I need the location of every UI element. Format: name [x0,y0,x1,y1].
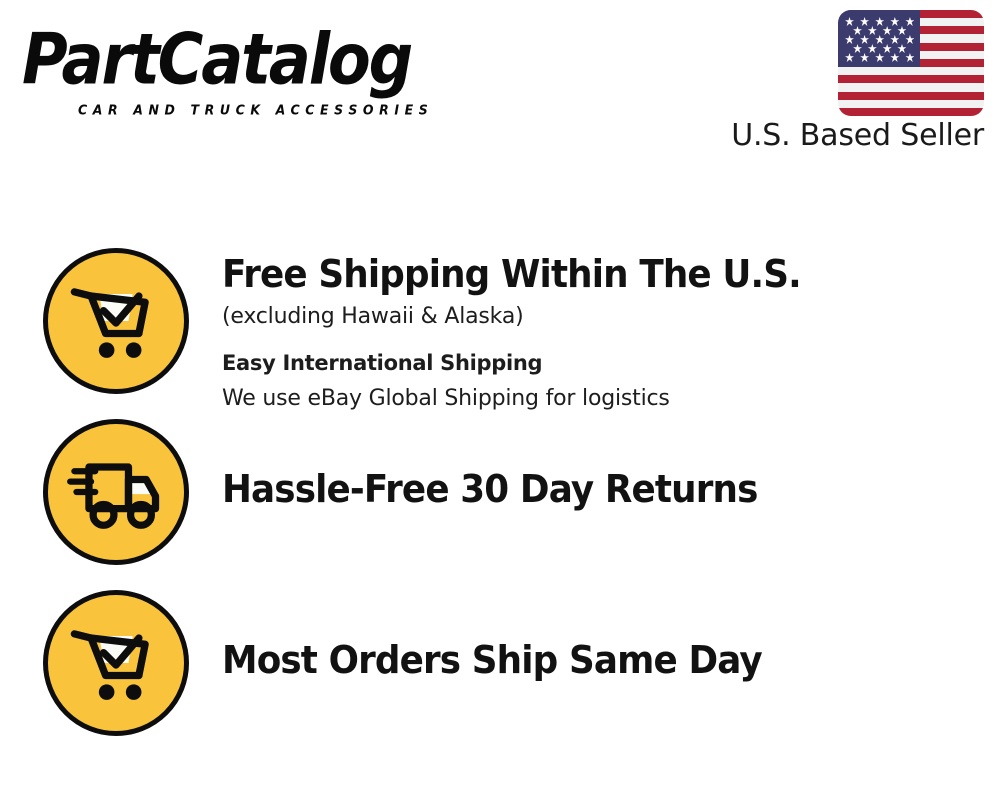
flag-star [860,53,869,62]
flag-stripe [838,83,984,91]
feature-note: (excluding Hawaii & Alaska) [222,302,1000,332]
flag-canton [838,10,920,67]
feature-row: Most Orders Ship Same Day [0,590,1000,736]
shopping-cart-check-icon [43,248,189,394]
flag-star [883,44,892,53]
shopping-cart-check-icon [43,590,189,736]
flag-star-row [845,35,914,44]
flag-star [845,17,854,26]
flag-stripe [838,108,984,116]
flag-stripe [838,67,984,75]
us-based-seller-label: U.S. Based Seller [731,119,984,153]
brand-logo[interactable]: PartCatalog CAR AND TRUCK ACCESSORIES [22,22,492,117]
flag-star [883,26,892,35]
flag-stripe [838,92,984,100]
flag-star [875,53,884,62]
page-header: PartCatalog CAR AND TRUCK ACCESSORIES [0,0,1000,170]
us-flag-icon [838,10,984,116]
flag-star [860,35,869,44]
flag-star [897,26,906,35]
flag-stripe [838,100,984,108]
flag-star [860,17,869,26]
flag-star [890,53,899,62]
brand-logo-tagline: CAR AND TRUCK ACCESSORIES [78,102,492,118]
feature-heading: Most Orders Ship Same Day [222,638,953,682]
flag-star [890,35,899,44]
flag-star [853,44,862,53]
flag-star [897,44,906,53]
flag-star [875,35,884,44]
flag-star [845,53,854,62]
flag-star [845,35,854,44]
flag-star [868,26,877,35]
flag-star-row [845,26,914,35]
feature-sub-text: We use eBay Global Shipping for logistic… [222,384,1000,414]
flag-star [875,17,884,26]
flag-star-row [845,17,914,26]
brand-logo-wordmark: PartCatalog [22,22,487,98]
feature-sub-heading: Easy International Shipping [222,348,1000,378]
flag-star [868,44,877,53]
delivery-truck-icon [43,419,189,565]
flag-star [905,53,914,62]
us-flag-badge [838,10,984,116]
feature-text-block: Most Orders Ship Same Day [222,590,1000,682]
flag-star-row [845,44,914,53]
flag-star [905,17,914,26]
flag-stripe [838,75,984,83]
flag-star [853,26,862,35]
flag-star-row [845,53,914,62]
flag-star-grid [838,10,920,67]
flag-star [890,17,899,26]
feature-text-block: Free Shipping Within The U.S. (excluding… [222,248,1000,414]
feature-row: Free Shipping Within The U.S. (excluding… [0,248,1000,414]
flag-star [905,35,914,44]
feature-heading: Hassle-Free 30 Day Returns [222,467,953,511]
feature-row: Hassle-Free 30 Day Returns [0,419,1000,565]
feature-heading: Free Shipping Within The U.S. [222,252,953,296]
feature-text-block: Hassle-Free 30 Day Returns [222,419,1000,511]
